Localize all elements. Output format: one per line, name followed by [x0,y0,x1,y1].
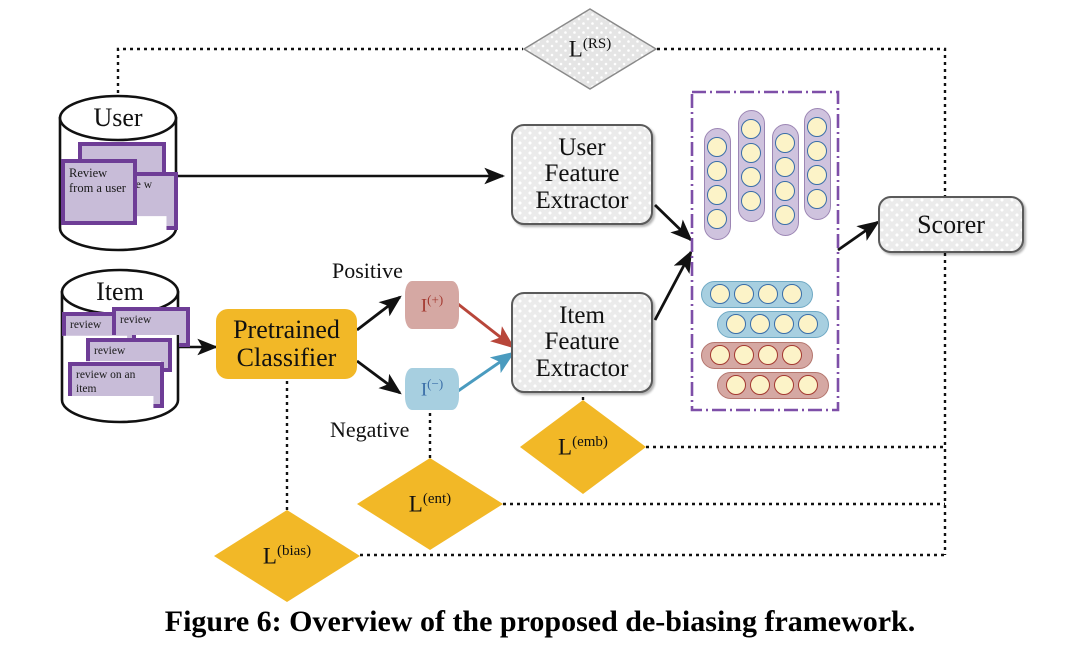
embedding-unit [782,345,802,365]
embedding-unit [774,314,794,334]
embedding-unit [734,345,754,365]
item-review-note-2-text: review [120,314,151,326]
embedding-unit [807,141,827,161]
negative-items-cylinder[interactable]: I(−) [405,368,459,410]
user-feature-extractor-line3: Extractor [535,188,628,215]
user-feature-extractor-line2: Feature [545,161,620,188]
loss-ent-label: L(ent) [409,491,451,518]
pretrained-classifier-line1: Pretrained [233,316,340,344]
embedding-unit [707,161,727,181]
item-feature-extractor-line3: Extractor [535,356,628,383]
embedding-unit [741,191,761,211]
loss-rs-diamond[interactable]: L(RS) [523,8,657,90]
user-embedding-capsule [772,124,799,236]
embedding-panel [692,92,838,410]
embedding-unit [807,165,827,185]
edge-item-extractor-to-embeddings [655,252,691,320]
negative-branch-label: Negative [330,417,409,443]
item-embedding-capsule-negative [701,281,813,308]
edge-negative-to-item-extractor [458,353,513,391]
edge-positive-to-item-extractor [458,304,513,347]
item-datastore-label: Item [62,277,178,307]
positive-items-label: I(+) [421,292,443,317]
user-embedding-capsule [738,110,765,222]
item-review-note-4-text: review on an item [76,369,135,395]
embedding-unit [726,375,746,395]
embedding-unit [741,167,761,187]
loss-emb-label: L(emb) [558,434,608,461]
positive-branch-label: Positive [332,258,403,284]
negative-items-label: I(−) [421,376,443,401]
item-feature-extractor-line2: Feature [545,329,620,356]
embedding-unit [807,117,827,137]
edge-classifier-to-positive [357,297,400,330]
embedding-unit [807,189,827,209]
edge-embeddings-to-scorer [838,222,878,250]
loss-bias-diamond[interactable]: L(bias) [214,510,360,602]
embedding-unit [775,181,795,201]
loss-bias-label: L(bias) [263,543,311,570]
user-datastore-label: User [60,103,176,133]
embedding-unit [726,314,746,334]
embedding-unit [758,284,778,304]
user-feature-extractor-line1: User [558,135,605,162]
embedding-unit [741,119,761,139]
embedding-unit [710,345,730,365]
embedding-unit [775,205,795,225]
figure-caption: Figure 6: Overview of the proposed de-bi… [0,605,1080,639]
embedding-unit [707,185,727,205]
embedding-unit [798,375,818,395]
embedding-unit [782,284,802,304]
user-embedding-capsule [804,108,831,220]
user-embedding-capsule [704,128,731,240]
embedding-unit [775,157,795,177]
item-embedding-capsule-positive [717,372,829,399]
figure-container: Revie w Review from a user review review… [0,0,1080,662]
item-embedding-capsule-positive [701,342,813,369]
item-review-note-3-text: review [94,345,125,357]
embedding-unit [707,209,727,229]
item-feature-extractor-line1: Item [559,303,605,330]
pretrained-classifier-line2: Classifier [237,344,337,372]
edge-classifier-to-negative [357,361,400,393]
loss-emb-diamond[interactable]: L(emb) [520,400,646,494]
edge-user-extractor-to-embeddings [655,205,691,240]
embedding-unit [750,375,770,395]
embedding-unit [734,284,754,304]
embedding-unit [741,143,761,163]
embedding-unit [710,284,730,304]
edge-loss-rs-to-user [118,49,523,100]
item-review-note-1-text: review [70,319,101,331]
positive-items-cylinder[interactable]: I(+) [405,281,459,329]
embedding-unit [750,314,770,334]
embedding-unit [775,133,795,153]
scorer-label: Scorer [917,211,985,239]
user-review-note-primary-text: Review from a user [69,166,126,195]
embedding-unit [707,137,727,157]
embedding-unit [774,375,794,395]
scorer-box[interactable]: Scorer [878,196,1024,253]
embedding-unit [798,314,818,334]
embedding-unit [758,345,778,365]
user-review-note-primary: Review from a user [61,159,137,225]
user-feature-extractor-box[interactable]: User Feature Extractor [511,124,653,225]
item-feature-extractor-box[interactable]: Item Feature Extractor [511,292,653,393]
item-embedding-capsule-negative [717,311,829,338]
loss-rs-label: L(RS) [569,36,611,63]
pretrained-classifier-box[interactable]: Pretrained Classifier [216,309,357,379]
loss-ent-diamond[interactable]: L(ent) [357,458,503,550]
